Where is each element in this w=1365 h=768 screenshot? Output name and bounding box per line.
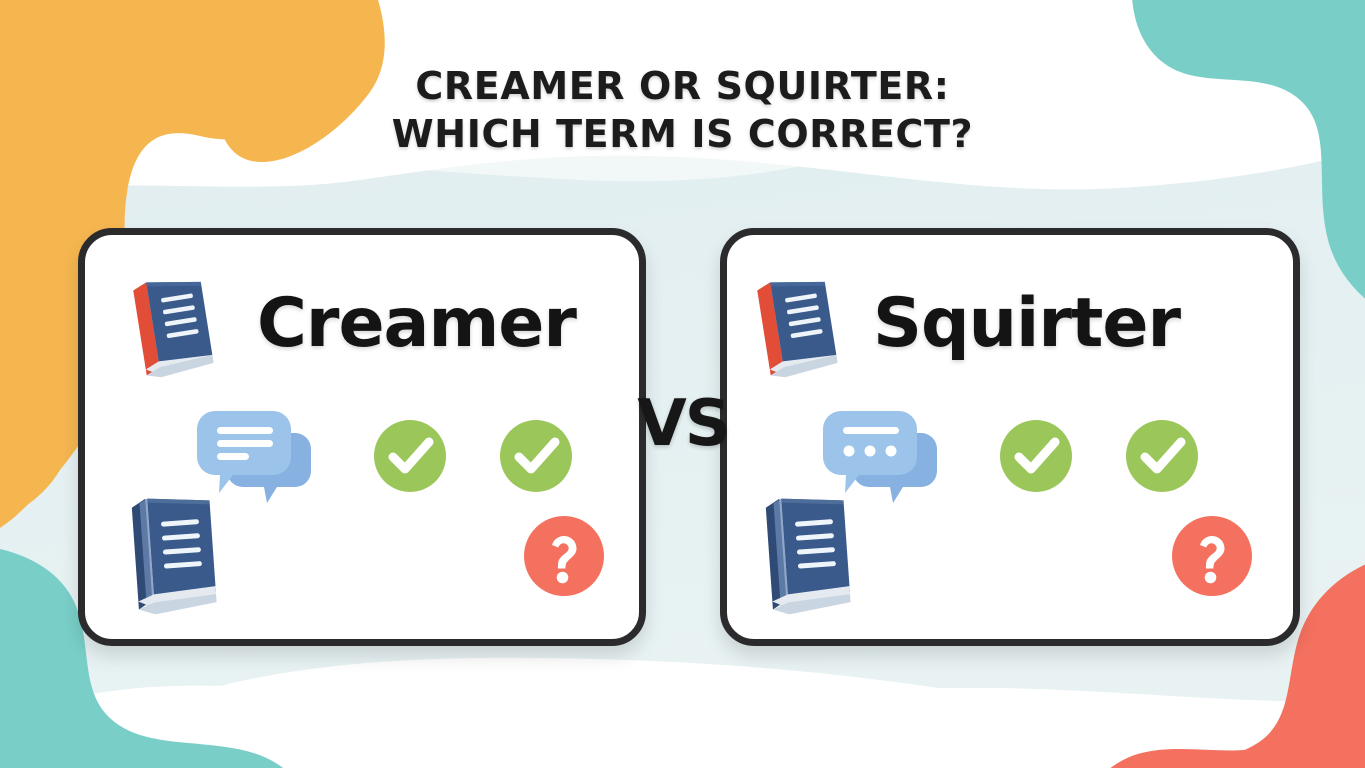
check-circle-icon: [997, 417, 1075, 495]
poster-canvas: CREAMER OR SQUIRTER: WHICH TERM IS CORRE…: [0, 0, 1365, 768]
question-circle-icon: [521, 513, 607, 599]
term-label-left: Creamer: [257, 290, 576, 358]
book-blue-icon: [113, 487, 233, 617]
versus-label: VS: [624, 392, 742, 456]
card-left-icon-row: [197, 407, 575, 505]
question-circle-icon: [1169, 513, 1255, 599]
card-right-header: Squirter: [727, 269, 1293, 379]
book-blue-icon: [747, 487, 867, 617]
term-label-right: Squirter: [873, 290, 1180, 358]
book-red-spine-icon: [747, 269, 843, 379]
check-circle-icon: [497, 417, 575, 495]
title-line-1: CREAMER OR SQUIRTER:: [0, 62, 1365, 110]
check-circle-icon: [371, 417, 449, 495]
book-red-spine-icon: [123, 269, 219, 379]
title-line-2: WHICH TERM IS CORRECT?: [0, 110, 1365, 158]
check-circle-icon: [1123, 417, 1201, 495]
comparison-card-squirter[interactable]: Squirter: [720, 228, 1300, 646]
comparison-card-creamer[interactable]: Creamer: [78, 228, 646, 646]
card-right-icon-row: [823, 407, 1201, 505]
page-title: CREAMER OR SQUIRTER: WHICH TERM IS CORRE…: [0, 62, 1365, 159]
card-left-header: Creamer: [85, 269, 639, 379]
